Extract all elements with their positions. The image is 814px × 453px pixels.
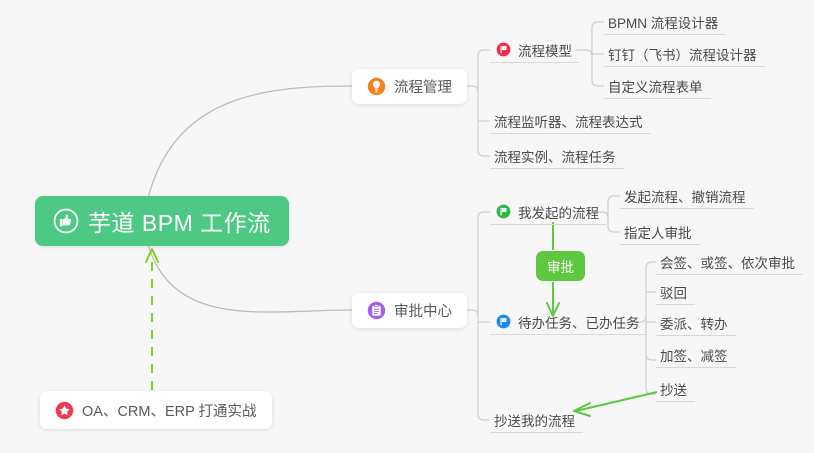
node-cc-to-me-process[interactable]: 抄送我的流程 bbox=[490, 407, 583, 433]
relation-integration-arrowhead bbox=[146, 249, 158, 262]
branch-node-approval-center[interactable]: 审批中心 bbox=[352, 293, 467, 328]
leaf-label-countersign: 会签、或签、依次审批 bbox=[660, 252, 795, 272]
clipboard-icon bbox=[367, 301, 386, 320]
mindmap-canvas: 芋道 BPM 工作流 OA、CRM、ERP 打通实战 流程管理 bbox=[0, 0, 814, 453]
edge-todo-leaf-addsign bbox=[646, 316, 656, 360]
leaf-node-custom-process-form[interactable]: 自定义流程表单 bbox=[604, 73, 711, 99]
branch-label-approval-center: 审批中心 bbox=[394, 300, 452, 321]
flag-red-icon bbox=[496, 42, 511, 57]
node-label-process-model: 流程模型 bbox=[518, 40, 572, 60]
edge-initiated-leaf-start bbox=[608, 196, 620, 218]
leaf-node-designated-approver[interactable]: 指定人审批 bbox=[620, 219, 700, 245]
leaf-label-delegate-transfer: 委派、转办 bbox=[660, 313, 728, 333]
branch-node-process-management[interactable]: 流程管理 bbox=[352, 69, 467, 104]
leaf-node-delegate-transfer[interactable]: 委派、转办 bbox=[656, 310, 736, 336]
leaf-node-countersign[interactable]: 会签、或签、依次审批 bbox=[656, 249, 803, 275]
leaf-node-reject[interactable]: 驳回 bbox=[656, 279, 695, 305]
branch-label-process-management: 流程管理 bbox=[394, 76, 452, 97]
edge-model-leaf-bpmn bbox=[592, 22, 604, 56]
aside-node-label: OA、CRM、ERP 打通实战 bbox=[82, 400, 257, 421]
leaf-node-dingtalk-feishu-designer[interactable]: 钉钉（飞书）流程设计器 bbox=[604, 41, 765, 67]
edge-root-to-approval-center bbox=[148, 245, 352, 312]
relation-cc-line bbox=[576, 392, 657, 411]
node-todo-done-tasks[interactable]: 待办任务、已办任务 bbox=[490, 309, 647, 335]
node-process-listener[interactable]: 流程监听器、流程表达式 bbox=[490, 108, 651, 134]
leaf-label-carbon-copy: 抄送 bbox=[660, 379, 687, 399]
flag-blue-icon bbox=[496, 314, 511, 329]
relation-chip-approval[interactable]: 审批 bbox=[536, 251, 585, 281]
star-icon bbox=[55, 401, 74, 420]
node-process-model[interactable]: 流程模型 bbox=[490, 37, 579, 63]
edge-ac-trunk bbox=[462, 310, 490, 420]
root-label: 芋道 BPM 工作流 bbox=[88, 204, 271, 238]
node-process-instance[interactable]: 流程实例、流程任务 bbox=[490, 143, 624, 169]
leaf-node-carbon-copy[interactable]: 抄送 bbox=[656, 376, 695, 402]
flag-green-icon bbox=[496, 204, 511, 219]
node-label-process-listener: 流程监听器、流程表达式 bbox=[494, 111, 643, 131]
leaf-node-start-cancel-process[interactable]: 发起流程、撤销流程 bbox=[620, 183, 754, 209]
edge-pm-branch-model bbox=[478, 50, 490, 92]
leaf-label-add-remove-sign: 加签、减签 bbox=[660, 345, 728, 365]
leaf-label-custom-process-form: 自定义流程表单 bbox=[608, 76, 703, 96]
node-label-process-instance: 流程实例、流程任务 bbox=[494, 146, 616, 166]
leaf-label-bpmn-designer: BPMN 流程设计器 bbox=[608, 12, 718, 32]
edge-todo-leaf-cc bbox=[646, 354, 656, 394]
node-label-my-initiated-process: 我发起的流程 bbox=[518, 202, 599, 222]
leaf-node-add-remove-sign[interactable]: 加签、减签 bbox=[656, 342, 736, 368]
edge-model-trunk bbox=[576, 50, 604, 86]
leaf-label-designated-approver: 指定人审批 bbox=[624, 222, 692, 242]
aside-node-integration[interactable]: OA、CRM、ERP 打通实战 bbox=[40, 391, 272, 429]
root-node[interactable]: 芋道 BPM 工作流 bbox=[35, 196, 289, 246]
leaf-node-bpmn-designer[interactable]: BPMN 流程设计器 bbox=[604, 9, 726, 35]
leaf-label-start-cancel-process: 发起流程、撤销流程 bbox=[624, 186, 746, 206]
leaf-label-dingtalk-feishu-designer: 钉钉（飞书）流程设计器 bbox=[608, 44, 757, 64]
relation-integration bbox=[146, 249, 158, 390]
edge-root-to-process-management bbox=[148, 86, 352, 198]
lightbulb-icon bbox=[367, 77, 386, 96]
node-label-todo-done-tasks: 待办任务、已办任务 bbox=[518, 312, 640, 332]
node-label-cc-to-me-process: 抄送我的流程 bbox=[494, 410, 575, 430]
relation-cc bbox=[574, 392, 657, 416]
leaf-label-reject: 驳回 bbox=[660, 282, 687, 302]
relation-chip-label-approval: 审批 bbox=[547, 256, 574, 276]
node-my-initiated-process[interactable]: 我发起的流程 bbox=[490, 199, 606, 225]
edge-ac-branch-initiated bbox=[478, 212, 490, 316]
thumbs-up-icon bbox=[53, 208, 79, 234]
